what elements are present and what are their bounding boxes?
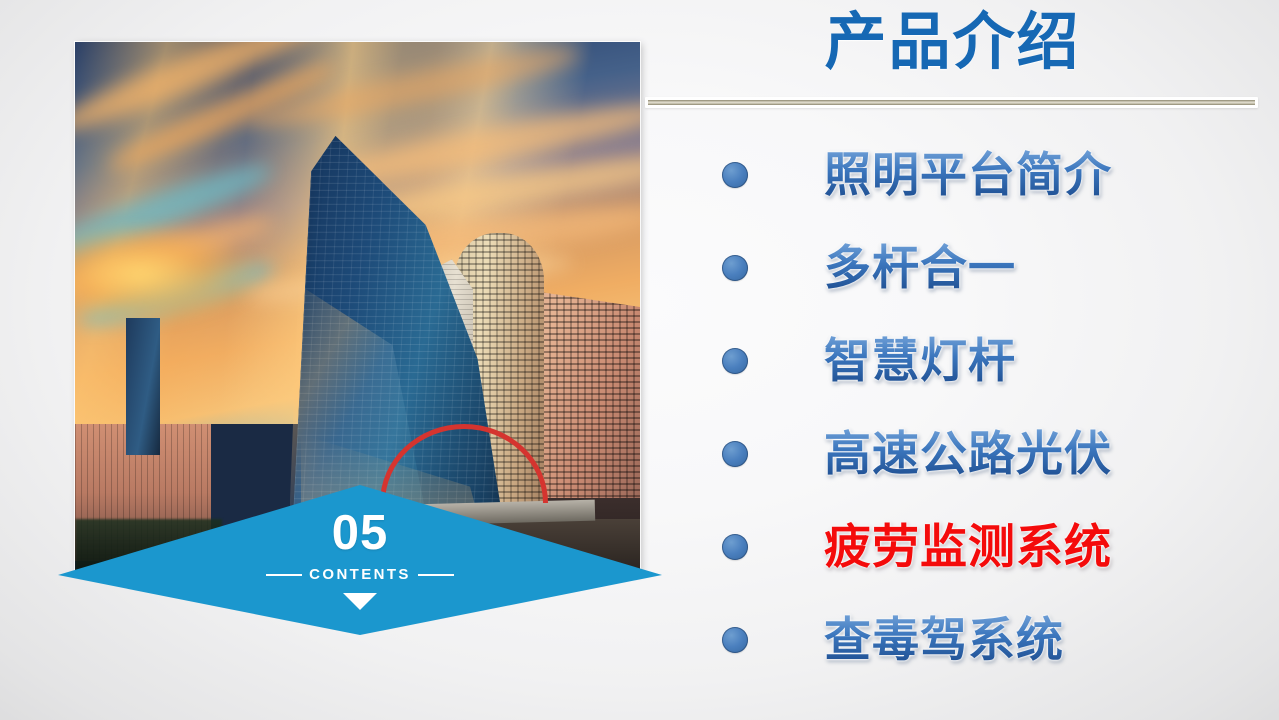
sun-glow <box>75 225 256 324</box>
divider-bar <box>647 99 1256 106</box>
list-item-label: 智慧灯杆 <box>824 336 1016 385</box>
list-item[interactable]: 多杆合一 <box>700 221 1260 314</box>
list-item[interactable]: 智慧灯杆 <box>700 314 1260 407</box>
bullet-dot-icon <box>722 255 748 281</box>
navy-tower <box>126 318 160 456</box>
list-item-label: 查毒驾系统 <box>824 615 1064 664</box>
bullet-dot-icon <box>722 348 748 374</box>
title-divider <box>645 97 1258 108</box>
presentation-slide: 05 CONTENTS 产品介绍 照明平台简介 多杆合一 智慧灯杆 高速公路光伏 <box>0 0 1279 720</box>
list-item-label: 多杆合一 <box>824 243 1016 292</box>
agenda-list: 照明平台简介 多杆合一 智慧灯杆 高速公路光伏 疲劳监测系统 查毒驾系统 <box>700 128 1260 686</box>
bullet-dot-icon <box>722 441 748 467</box>
bullet-dot-icon <box>722 162 748 188</box>
bullet-dot-icon <box>722 627 748 653</box>
list-item-label: 疲劳监测系统 <box>824 522 1112 571</box>
list-item-highlighted[interactable]: 疲劳监测系统 <box>700 500 1260 593</box>
page-title: 产品介绍 <box>645 4 1260 82</box>
bullet-dot-icon <box>722 534 748 560</box>
list-item[interactable]: 查毒驾系统 <box>700 593 1260 686</box>
list-item[interactable]: 照明平台简介 <box>700 128 1260 221</box>
list-item-label: 高速公路光伏 <box>824 429 1112 478</box>
list-item[interactable]: 高速公路光伏 <box>700 407 1260 500</box>
list-item-label: 照明平台简介 <box>824 150 1112 199</box>
